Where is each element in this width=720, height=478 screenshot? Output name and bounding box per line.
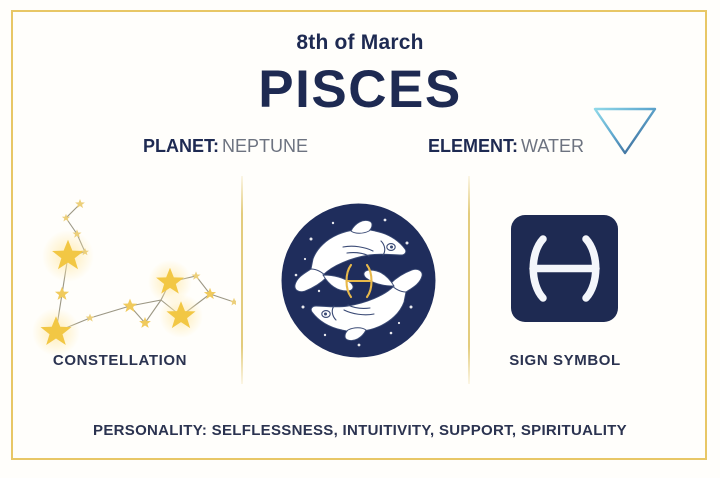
date-label: 8th of March [0,31,720,55]
divider-left [241,176,243,384]
element-key-label: ELEMENT: [428,136,518,156]
planet-attribute: PLANET:NEPTUNE [143,136,308,157]
element-value-label: WATER [521,136,584,156]
planet-key-label: PLANET: [143,136,219,156]
pisces-zodiac-card: 8th of March PISCES PLANET:NEPTUNE ELEME… [0,0,720,478]
water-triangle-icon [592,104,658,156]
sign-symbol-box [511,215,618,322]
sign-symbol-label: SIGN SYMBOL [470,352,660,369]
pisces-glyph-icon [511,215,618,322]
pisces-two-fish-emblem-icon [281,203,436,358]
planet-value-label: NEPTUNE [222,136,308,156]
constellation-label: CONSTELLATION [0,352,240,369]
personality-label: PERSONALITY: SELFLESSNESS, INTUITIVITY, … [0,422,720,439]
element-attribute: ELEMENT:WATER [428,136,584,157]
